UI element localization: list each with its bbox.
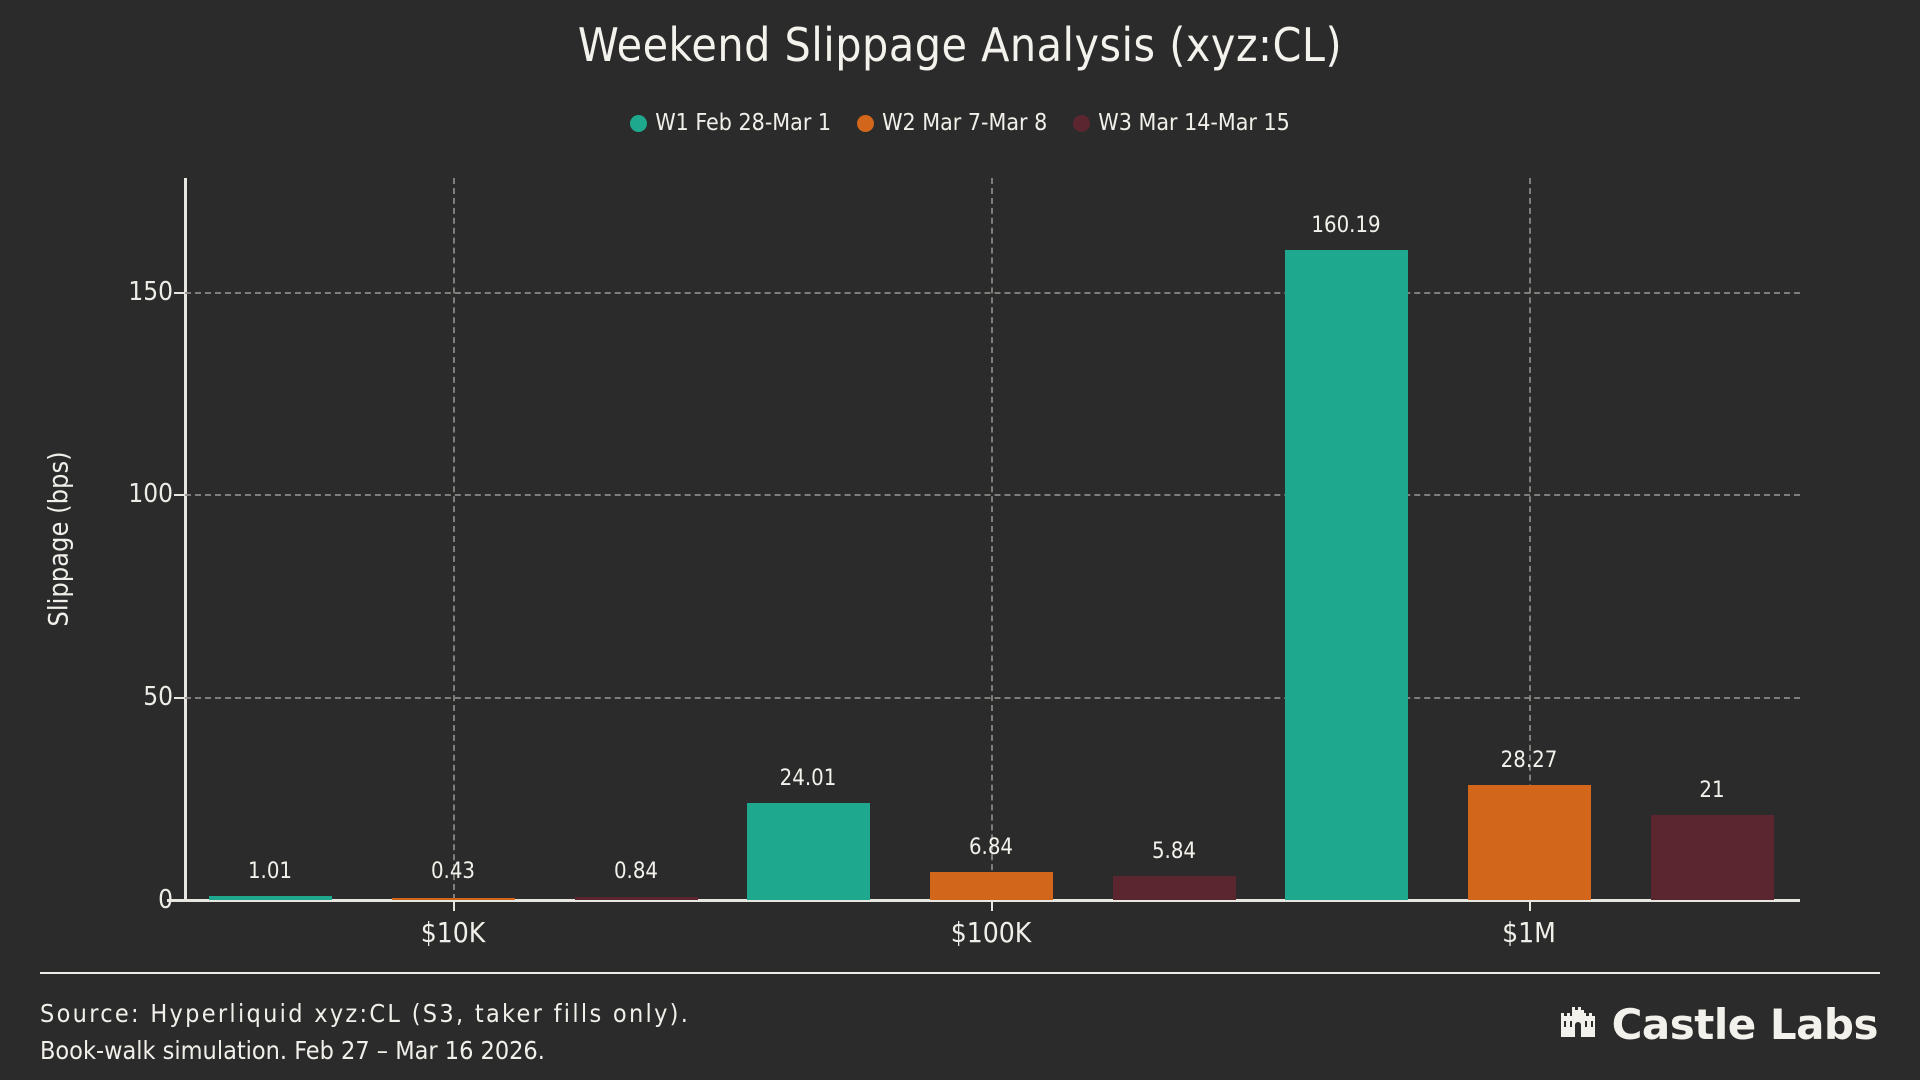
x-tick-mark-10k: [453, 900, 455, 911]
legend-label-w3: W3 Mar 14-Mar 15: [1098, 110, 1290, 136]
legend-item-w3[interactable]: W3 Mar 14-Mar 15: [1073, 110, 1290, 136]
y-tick-mark-0: [174, 900, 185, 902]
brand-name: Castle Labs: [1612, 1000, 1878, 1049]
chart-plot-area: 0 50 100 150 Slippage (bps) 1.01 0.43 0.…: [185, 178, 1800, 900]
bar-value-w2-100k: 6.84: [969, 835, 1013, 860]
legend-swatch-icon-w3: [1073, 115, 1090, 132]
y-tick-mark-100: [174, 494, 185, 496]
x-tick-label-10k: $10K: [421, 916, 486, 949]
bar-w1-10k[interactable]: [209, 896, 332, 900]
bar-w1-100k[interactable]: [747, 803, 870, 900]
bar-value-w3-100k: 5.84: [1152, 839, 1196, 864]
y-tick-mark-150: [174, 292, 185, 294]
bar-w3-1m[interactable]: [1651, 815, 1774, 900]
chart-legend: W1 Feb 28-Mar 1 W2 Mar 7-Mar 8 W3 Mar 14…: [0, 110, 1920, 136]
y-tick-mark-50: [174, 697, 185, 699]
y-tick-label-150: 150: [53, 277, 173, 307]
bar-value-w2-10k: 0.43: [431, 859, 475, 884]
brand-logo: Castle Labs: [1558, 1000, 1878, 1049]
legend-swatch-icon-w2: [857, 115, 874, 132]
legend-label-w1: W1 Feb 28-Mar 1: [655, 110, 831, 136]
y-tick-label-0: 0: [53, 885, 173, 915]
legend-item-w1[interactable]: W1 Feb 28-Mar 1: [630, 110, 831, 136]
bar-value-w1-10k: 1.01: [248, 859, 292, 884]
bar-value-w1-100k: 24.01: [780, 766, 837, 791]
bar-value-w2-1m: 28.27: [1501, 748, 1558, 773]
page-title: Weekend Slippage Analysis (xyz:CL): [0, 18, 1920, 72]
y-axis-label: Slippage (bps): [44, 451, 75, 626]
gridline-x-1: [453, 178, 455, 900]
bar-value-w3-1m: 21: [1699, 778, 1724, 803]
castle-icon: [1558, 1003, 1598, 1047]
x-tick-mark-1m: [1529, 900, 1531, 911]
footer-source: Source: Hyperliquid xyz:CL (S3, taker fi…: [40, 995, 1140, 1069]
bar-w3-100k[interactable]: [1113, 876, 1236, 900]
legend-swatch-icon-w1: [630, 115, 647, 132]
gridline-x-2: [991, 178, 993, 900]
footer-divider: [40, 972, 1880, 974]
x-tick-label-1m: $1M: [1502, 916, 1556, 949]
x-tick-mark-100k: [991, 900, 993, 911]
bar-value-w3-10k: 0.84: [614, 859, 658, 884]
bar-w3-10k[interactable]: [575, 897, 698, 900]
y-axis-spine: [184, 178, 187, 900]
legend-label-w2: W2 Mar 7-Mar 8: [882, 110, 1047, 136]
source-line-1: Source: Hyperliquid xyz:CL (S3, taker fi…: [40, 995, 1140, 1032]
bar-w2-100k[interactable]: [930, 872, 1053, 900]
legend-item-w2[interactable]: W2 Mar 7-Mar 8: [857, 110, 1047, 136]
y-tick-label-50: 50: [53, 682, 173, 712]
x-tick-label-100k: $100K: [951, 916, 1032, 949]
bar-w1-1m[interactable]: [1285, 250, 1408, 900]
bar-value-w1-1m: 160.19: [1311, 213, 1380, 238]
bar-w2-1m[interactable]: [1468, 785, 1591, 900]
source-line-2: Book-walk simulation. Feb 27 – Mar 16 20…: [40, 1032, 1140, 1069]
